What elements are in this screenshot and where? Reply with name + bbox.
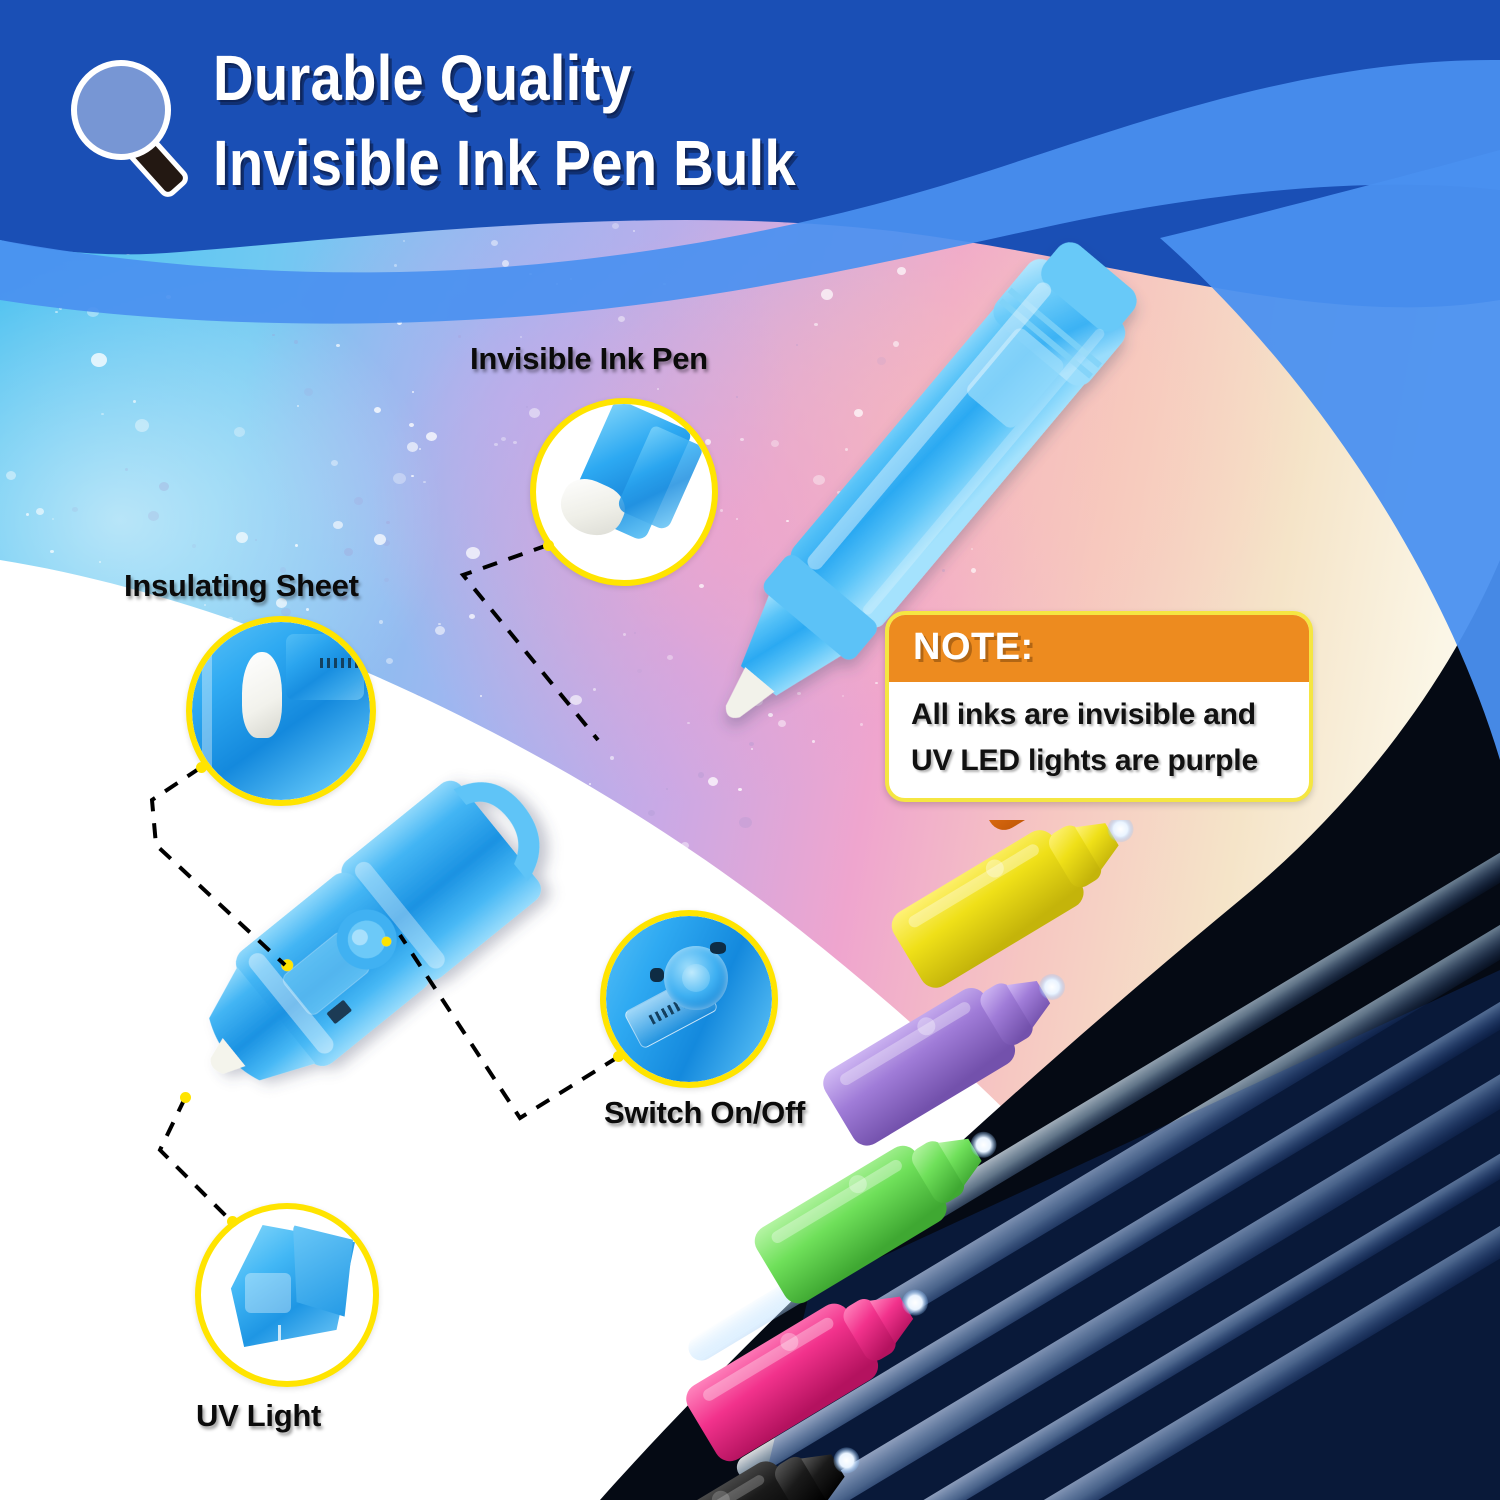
label-uv-light: UV Light xyxy=(196,1398,321,1434)
label-switch-on-off: Switch On/Off xyxy=(604,1095,805,1131)
magnifier-icon xyxy=(35,48,195,208)
note-body: All inks are invisible and UV LED lights… xyxy=(889,682,1309,798)
note-line-1: All inks are invisible and xyxy=(911,698,1287,732)
uv-pen-image xyxy=(150,745,620,1125)
callout-invisible-ink-pen[interactable] xyxy=(530,398,718,586)
callout-switch-on-off[interactable] xyxy=(600,910,778,1088)
leader-anchor-dot xyxy=(196,762,207,773)
uv-led-detail xyxy=(201,1209,373,1381)
note-box: NOTE: All inks are invisible and UV LED … xyxy=(885,611,1313,802)
insulating-sheet-detail xyxy=(192,622,370,800)
leader-anchor-dot xyxy=(613,1051,624,1062)
note-line-2: UV LED lights are purple xyxy=(911,744,1287,778)
infographic-canvas: Durable Quality Invisible Ink Pen Bulk xyxy=(0,0,1500,1500)
pen-nib-detail xyxy=(536,404,712,580)
leader-anchor-dot xyxy=(543,540,554,551)
label-invisible-ink-pen: Invisible Ink Pen xyxy=(470,341,708,377)
slider-switch-detail xyxy=(606,916,772,1082)
label-insulating-sheet: Insulating Sheet xyxy=(124,568,359,604)
note-heading: NOTE: xyxy=(913,626,1034,668)
callout-insulating-sheet[interactable] xyxy=(186,616,376,806)
note-header: NOTE: xyxy=(889,615,1309,682)
callout-uv-light[interactable] xyxy=(195,1203,379,1387)
leader-anchor-dot xyxy=(227,1216,238,1227)
leader-anchor-dot xyxy=(180,1092,191,1103)
